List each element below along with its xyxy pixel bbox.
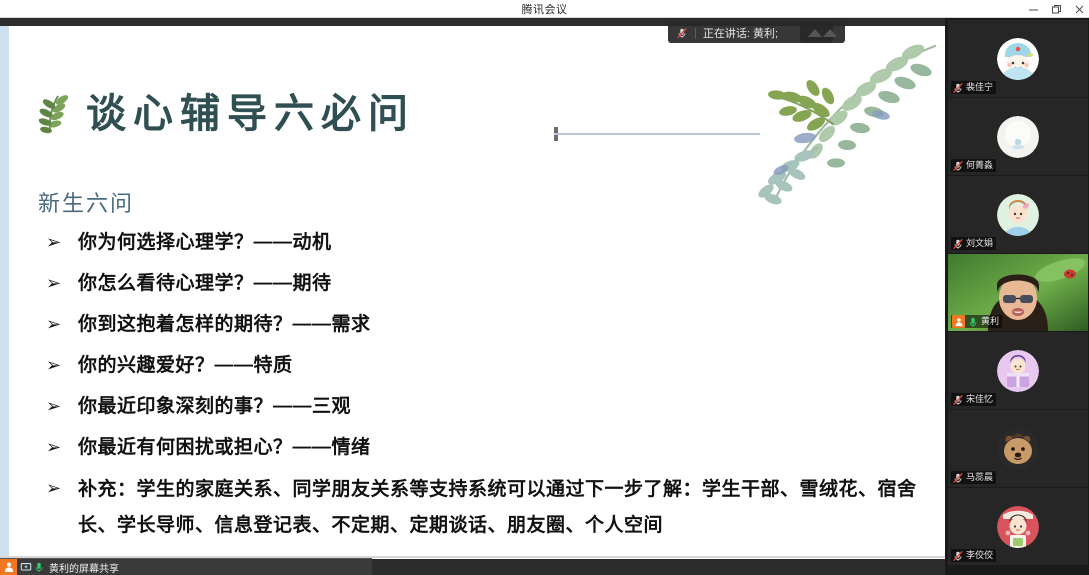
minimize-button[interactable] <box>1027 3 1039 15</box>
list-item-label: 你到这抱着怎样的期待？——需求 <box>78 308 371 341</box>
mic-muted-icon <box>952 550 964 562</box>
bullet-arrow-icon: ➢ <box>40 308 78 341</box>
participant-tile[interactable]: 裴佳宁 <box>948 20 1088 97</box>
slide-accent-bar <box>0 26 9 559</box>
list-item: ➢ 你为何选择心理学？——动机 <box>40 226 920 259</box>
bullet-list: ➢ 你为何选择心理学？——动机 ➢ 你怎么看待心理学？——期待 ➢ 你到这抱着怎… <box>40 226 920 552</box>
list-item-label: 你怎么看待心理学？——期待 <box>78 267 332 300</box>
participant-label: 马蕊晨 <box>951 471 996 484</box>
participant-tile[interactable]: 宋佳忆 <box>948 332 1088 409</box>
mic-muted-icon <box>952 472 964 484</box>
list-item-label: 你最近印象深刻的事？——三观 <box>78 390 351 423</box>
share-bar-icons <box>17 561 48 573</box>
participant-name: 裴佳宁 <box>966 81 993 94</box>
list-item: ➢ 你的兴趣爱好？——特质 <box>40 349 920 382</box>
slide-subtitle: 新生六问 <box>38 186 134 218</box>
screen-share-status-bar[interactable]: 黄利的屏幕共享 <box>0 558 372 575</box>
participant-tile[interactable]: 何菁淼 <box>948 98 1088 175</box>
cartoon-gift-avatar <box>997 350 1039 392</box>
participant-label: 李佼佼 <box>951 549 996 562</box>
participant-name: 李佼佼 <box>966 549 993 562</box>
list-item: ➢ 你到这抱着怎样的期待？——需求 <box>40 308 920 341</box>
window-titlebar: 腾讯会议 <box>0 0 1089 18</box>
screen-share-icon <box>20 561 32 573</box>
participant-tile[interactable]: 李佼佼 <box>948 488 1088 565</box>
bullet-arrow-icon: ➢ <box>40 226 78 259</box>
list-item: ➢ 你最近印象深刻的事？——三观 <box>40 390 920 423</box>
cartoon-chef-avatar <box>997 506 1039 548</box>
shared-screen-stage[interactable]: 谈心辅导六必问 新生六问 ➢ 你为何选择心理学？——动机 ➢ 你怎么看待心理学？… <box>0 18 945 575</box>
chevrons-up-icon <box>806 26 840 39</box>
mic-muted-icon <box>952 238 964 250</box>
supplement-text: 补充：学生的家庭关系、同学朋友关系等支持系统可以通过下一步了解：学生干部、雪绒花… <box>78 472 920 544</box>
list-item: ➢ 你怎么看待心理学？——期待 <box>40 267 920 300</box>
participant-name: 刘文娟 <box>966 237 993 250</box>
bullet-arrow-icon: ➢ <box>40 390 78 423</box>
participant-label: 宋佳忆 <box>951 393 996 406</box>
presentation-slide: 谈心辅导六必问 新生六问 ➢ 你为何选择心理学？——动机 ➢ 你怎么看待心理学？… <box>0 26 945 559</box>
participant-name: 宋佳忆 <box>966 393 993 406</box>
active-speaker-label: 正在讲话: 黄利; <box>703 25 778 41</box>
screen-share-label: 黄利的屏幕共享 <box>48 560 119 575</box>
dog-photo-avatar <box>997 428 1039 470</box>
app-body: 谈心辅导六必问 新生六问 ➢ 你为何选择心理学？——动机 ➢ 你怎么看待心理学？… <box>0 18 1089 575</box>
participant-sidebar[interactable]: 裴佳宁 何菁淼 <box>945 18 1089 575</box>
page-title: 谈心辅导六必问 <box>86 94 415 134</box>
participant-label: 何菁淼 <box>951 159 996 172</box>
mic-on-green-icon <box>967 316 979 328</box>
host-person-icon <box>952 315 965 328</box>
bullet-arrow-icon: ➢ <box>40 472 78 505</box>
leaf-branch-icon <box>38 92 72 136</box>
participant-label: 刘文娟 <box>951 237 996 250</box>
collapse-banner-button[interactable] <box>800 22 845 43</box>
participant-name: 黄利 <box>981 315 999 328</box>
window-title: 腾讯会议 <box>522 1 568 17</box>
title-rule <box>554 133 760 135</box>
mic-muted-red-icon <box>676 27 688 39</box>
bullet-arrow-icon: ➢ <box>40 349 78 382</box>
slide-title-row: 谈心辅导六必问 <box>38 92 415 136</box>
cartoon-girl-avatar <box>997 194 1039 236</box>
participant-name: 何菁淼 <box>966 159 993 172</box>
participant-label: 裴佳宁 <box>951 81 996 94</box>
mic-on-green-icon <box>33 561 45 573</box>
list-item-label: 你的兴趣爱好？——特质 <box>78 349 293 382</box>
participant-tile-active-speaker[interactable]: 黄利 <box>948 254 1088 331</box>
botanical-decoration-icon <box>685 26 945 218</box>
bullet-arrow-icon: ➢ <box>40 431 78 464</box>
bullet-arrow-icon: ➢ <box>40 267 78 300</box>
list-item-label: 你为何选择心理学？——动机 <box>78 226 332 259</box>
list-item-supplement: ➢ 补充：学生的家庭关系、同学朋友关系等支持系统可以通过下一步了解：学生干部、雪… <box>40 472 920 544</box>
mic-muted-icon <box>952 394 964 406</box>
list-item-label: 你最近有何困扰或担心？——情绪 <box>78 431 371 464</box>
participant-tile[interactable]: 马蕊晨 <box>948 410 1088 487</box>
mic-muted-icon <box>952 160 964 172</box>
window-controls <box>1027 0 1085 18</box>
participant-tile[interactable]: 刘文娟 <box>948 176 1088 253</box>
participant-name: 马蕊晨 <box>966 471 993 484</box>
host-person-icon <box>0 559 17 575</box>
restore-button[interactable] <box>1050 3 1062 15</box>
mic-muted-icon <box>952 82 964 94</box>
list-item: ➢ 你最近有何困扰或担心？——情绪 <box>40 431 920 464</box>
close-button[interactable] <box>1073 3 1085 15</box>
cartoon-nurse-avatar <box>997 38 1039 80</box>
participant-label-active: 黄利 <box>951 315 1002 328</box>
white-photo-avatar <box>997 116 1039 158</box>
